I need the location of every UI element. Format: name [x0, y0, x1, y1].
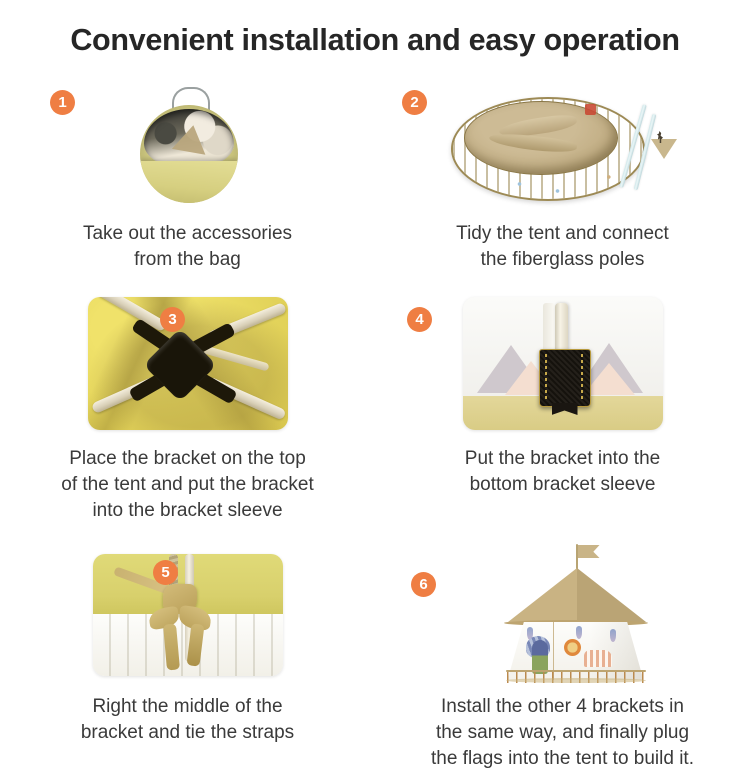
- bag-contents: [144, 109, 234, 167]
- step-3-caption-line-3: into the bracket sleeve: [14, 498, 361, 524]
- step-2-caption-line-1: Tidy the tent and connect: [389, 221, 736, 247]
- flattened-tent-illustration: [445, 87, 680, 207]
- step-4-badge: 4: [407, 307, 432, 332]
- lion-face-icon: [564, 639, 581, 656]
- bag-body: [140, 105, 238, 203]
- step-3-badge: 3: [160, 307, 185, 332]
- step-5-caption-line-1: Right the middle of the: [14, 694, 361, 720]
- step-3-caption-line-1: Place the bracket on the top: [14, 446, 361, 472]
- x-bracket-photo: [88, 297, 288, 430]
- step-5-caption-line-2: bracket and tie the straps: [14, 720, 361, 746]
- step-3-visual: 3: [0, 297, 375, 430]
- steps-row-1: 1 Take out the accessories from the bag: [0, 82, 750, 273]
- step-4-caption-line-1: Put the bracket into the: [389, 446, 736, 472]
- tent-base-shadow: [506, 678, 646, 683]
- step-6-caption-line-1: Install the other 4 brackets in: [389, 694, 736, 720]
- step-1-caption-line-2: from the bag: [14, 247, 361, 273]
- instruction-infographic: Convenient installation and easy operati…: [0, 0, 750, 750]
- step-3: 3 Place: [0, 297, 375, 524]
- step-6-caption-line-2: the same way, and finally plug: [389, 720, 736, 746]
- step-4-visual: 4: [375, 297, 750, 430]
- step-5-caption: Right the middle of the bracket and tie …: [0, 694, 375, 746]
- bag-flap: [141, 161, 237, 203]
- step-1-badge: 1: [50, 90, 75, 115]
- step-3-caption-line-2: of the tent and put the bracket: [14, 472, 361, 498]
- step-2: 2: [375, 82, 750, 273]
- tassel-print-3: [610, 629, 616, 642]
- page-title: Convenient installation and easy operati…: [0, 23, 750, 58]
- step-4: 4: [375, 297, 750, 524]
- black-bracket-sleeve: [539, 349, 591, 407]
- step-5-badge: 5: [153, 560, 178, 585]
- triangular-flag: [651, 139, 677, 159]
- peacock-body-icon: [532, 640, 548, 674]
- steps-row-3: 5 Right the middle o: [0, 552, 750, 772]
- tied-straps-photo: [93, 554, 283, 676]
- step-1: 1 Take out the accessories from the bag: [0, 82, 375, 273]
- step-4-caption-line-2: bottom bracket sleeve: [389, 472, 736, 498]
- roof-shading: [577, 568, 646, 622]
- zebra-icon: [584, 650, 612, 667]
- round-carry-bag-illustration: [88, 87, 288, 207]
- fabric-fold-2: [489, 131, 578, 154]
- step-2-caption: Tidy the tent and connect the fiberglass…: [375, 221, 750, 273]
- stitch-left: [545, 354, 547, 402]
- step-5: 5 Right the middle o: [0, 552, 375, 772]
- assembled-tent-illustration: [486, 544, 666, 684]
- step-2-badge: 2: [402, 90, 427, 115]
- steps-row-2: 3 Place: [0, 297, 750, 524]
- steps-grid: 1 Take out the accessories from the bag: [0, 82, 750, 772]
- step-1-visual: 1: [0, 82, 375, 207]
- pennant-flag-icon: [578, 545, 600, 558]
- step-6-caption: Install the other 4 brackets in the same…: [375, 694, 750, 772]
- step-2-visual: 2: [375, 82, 750, 207]
- step-4-caption: Put the bracket into the bottom bracket …: [375, 446, 750, 498]
- step-1-caption: Take out the accessories from the bag: [0, 221, 375, 273]
- red-label-tag: [585, 104, 596, 115]
- step-6-badge: 6: [411, 572, 436, 597]
- stitch-right: [581, 354, 583, 402]
- step-2-caption-line-2: the fiberglass poles: [389, 247, 736, 273]
- step-5-visual: 5: [0, 552, 375, 676]
- pole-fabric-sleeve: [543, 303, 555, 355]
- step-6: 6: [375, 552, 750, 772]
- tassel-print-2: [576, 626, 582, 639]
- step-3-caption: Place the bracket on the top of the tent…: [0, 446, 375, 524]
- step-6-visual: 6: [375, 552, 750, 676]
- step-1-caption-line-1: Take out the accessories: [14, 221, 361, 247]
- bottom-bracket-sleeve-photo: [463, 297, 663, 430]
